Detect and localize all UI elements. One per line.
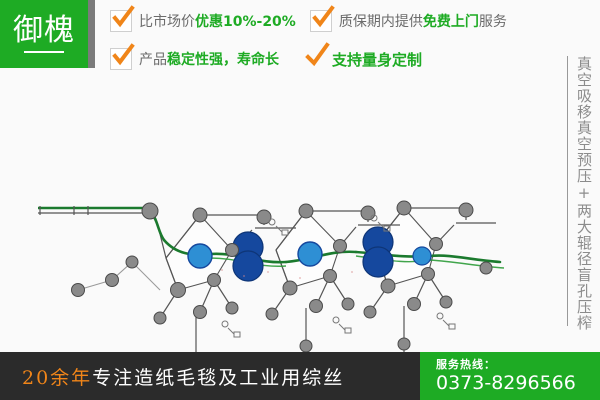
vertical-caption: 真空吸移真空预压+两大辊径盲孔压榨 — [567, 56, 592, 342]
hotline-label: 服务热线： — [436, 358, 600, 372]
selling-points-row-2: 产品稳定性强，寿命长 支持量身定制 — [110, 40, 600, 78]
footer-slogan-rest: 专注造纸毛毯及工业用综丝 — [92, 367, 344, 389]
check-icon — [110, 10, 132, 32]
footer: 20余年专注造纸毛毯及工业用综丝 服务热线： 0373-8296566 — [0, 352, 600, 400]
selling-points-list: 比市场价优惠10%-20% 质保期内提供免费上门服务 产品稳定性强，寿命长 — [110, 2, 600, 80]
selling-point-4-label: 支持量身定制 — [332, 49, 422, 70]
brand-logo-underline — [24, 51, 64, 53]
selling-point-1: 比市场价优惠10%-20% — [110, 10, 296, 32]
check-icon — [110, 48, 132, 70]
vertical-caption-text: 真空吸移真空预压+两大辊径盲孔压榨 — [575, 56, 592, 342]
paper-machine-diagram — [0, 80, 520, 352]
selling-point-2-label: 质保期内提供免费上门服务 — [339, 11, 507, 31]
footer-slogan-bar: 20余年专注造纸毛毯及工业用综丝 — [0, 352, 420, 400]
header: 御槐 比市场价优惠10%-20% 质保期内提供免费上门服务 — [0, 0, 600, 80]
selling-point-1-label: 比市场价优惠10%-20% — [139, 11, 296, 31]
brand-logo-text: 御槐 — [13, 15, 75, 47]
brand-logo[interactable]: 御槐 — [0, 0, 88, 68]
check-icon — [310, 10, 332, 32]
footer-slogan-highlight: 20余年 — [22, 367, 92, 389]
promo-banner: 御槐 比市场价优惠10%-20% 质保期内提供免费上门服务 — [0, 0, 600, 400]
selling-point-4: 支持量身定制 — [305, 49, 422, 70]
selling-point-3: 产品稳定性强，寿命长 — [110, 48, 279, 70]
hotline-number: 0373-8296566 — [436, 372, 600, 394]
vertical-caption-rule — [567, 56, 568, 326]
hotline-block[interactable]: 服务热线： 0373-8296566 — [420, 352, 600, 400]
footer-slogan: 20余年专注造纸毛毯及工业用综丝 — [22, 363, 344, 390]
selling-point-2: 质保期内提供免费上门服务 — [310, 10, 507, 32]
selling-point-3-label: 产品稳定性强，寿命长 — [139, 49, 279, 69]
selling-points-row-1: 比市场价优惠10%-20% 质保期内提供免费上门服务 — [110, 2, 600, 40]
check-icon — [305, 49, 325, 69]
logo-side-bar — [88, 0, 95, 68]
